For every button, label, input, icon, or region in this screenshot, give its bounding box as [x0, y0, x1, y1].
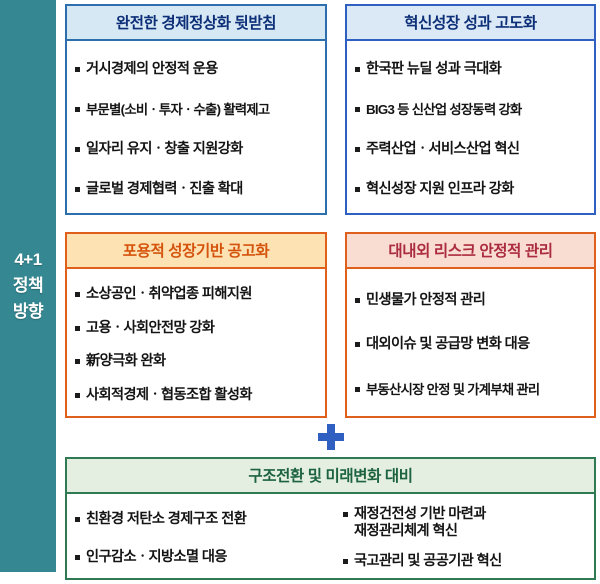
card-inclusive-growth[interactable]: 포용적 성장기반 공고화 소상공인ㆍ취약업종 피해지원 고용ㆍ사회안전망 강화 …	[65, 232, 327, 418]
square-bullet-icon	[75, 292, 80, 297]
card-structure-left-column: 친환경 저탄소 경제구조 전환 인구감소ㆍ지방소멸 대응	[67, 494, 335, 582]
square-bullet-icon	[75, 326, 80, 331]
list-item-label: 주력산업ㆍ서비스산업 혁신	[366, 141, 519, 158]
policy-direction-rail: 4+1 정책 방향	[0, 0, 56, 572]
list-item[interactable]: 대외이슈 및 공급망 변화 대응	[355, 336, 588, 353]
card-structure-title: 구조전환 및 미래변화 대비	[67, 459, 594, 494]
list-item-label: 친환경 저탄소 경제구조 전환	[86, 511, 246, 528]
square-bullet-icon	[355, 387, 360, 392]
card-risk-title: 대내외 리스크 안정적 관리	[347, 234, 594, 269]
list-item-label: BIG3 등 신산업 성장동력 강화	[366, 101, 522, 118]
card-structure-right-column: 재정건전성 기반 마련과 재정관리체계 혁신 국고관리 및 공공기관 혁신	[335, 494, 594, 582]
rail-line-1: 4+1	[14, 248, 41, 272]
square-bullet-icon	[355, 147, 360, 152]
card-structure-columns: 친환경 저탄소 경제구조 전환 인구감소ㆍ지방소멸 대응 재정건전성 기반 마련…	[67, 494, 594, 582]
square-bullet-icon	[343, 512, 348, 517]
list-item-label: 사회적경제ㆍ협동조합 활성화	[86, 387, 252, 404]
square-bullet-icon	[355, 107, 360, 112]
list-item-label: 新양극화 완화	[86, 353, 166, 370]
list-item[interactable]: 혁신성장 지원 인프라 강화	[355, 181, 588, 198]
list-item[interactable]: 거시경제의 안정적 운용	[75, 61, 319, 78]
card-macro-normalization[interactable]: 완전한 경제정상화 뒷받침 거시경제의 안정적 운용 부문별(소비ㆍ투자ㆍ수출)…	[65, 4, 327, 215]
list-item[interactable]: 국고관리 및 공공기관 혁신	[343, 553, 590, 570]
list-item-label: 부문별(소비ㆍ투자ㆍ수출) 활력제고	[86, 101, 269, 118]
card-risk-list: 민생물가 안정적 관리 대외이슈 및 공급망 변화 대응 부동산시장 안정 및 …	[347, 269, 594, 420]
square-bullet-icon	[75, 359, 80, 364]
plus-icon	[318, 424, 344, 450]
list-item-label: 혁신성장 지원 인프라 강화	[366, 181, 514, 198]
list-item-label: 민생물가 안정적 관리	[366, 292, 485, 309]
list-item-label: 일자리 유지ㆍ창출 지원강화	[86, 141, 243, 158]
list-item[interactable]: 부동산시장 안정 및 가계부채 관리	[355, 381, 588, 398]
list-item[interactable]: 新양극화 완화	[75, 353, 319, 370]
square-bullet-icon	[355, 187, 360, 192]
card-macro-title: 완전한 경제정상화 뒷받침	[67, 6, 325, 41]
card-innovation-title: 혁신성장 성과 고도화	[347, 6, 594, 41]
list-item[interactable]: 고용ㆍ사회안전망 강화	[75, 320, 319, 337]
list-item[interactable]: 주력산업ㆍ서비스산업 혁신	[355, 141, 588, 158]
list-item-label: 거시경제의 안정적 운용	[86, 61, 218, 78]
list-item[interactable]: 한국판 뉴딜 성과 극대화	[355, 61, 588, 78]
policy-diagram: 4+1 정책 방향 완전한 경제정상화 뒷받침 거시경제의 안정적 운용 부문별…	[0, 0, 600, 584]
square-bullet-icon	[75, 517, 80, 522]
list-item[interactable]: BIG3 등 신산업 성장동력 강화	[355, 101, 588, 118]
list-item[interactable]: 부문별(소비ㆍ투자ㆍ수출) 활력제고	[75, 101, 319, 118]
square-bullet-icon	[343, 559, 348, 564]
list-item[interactable]: 인구감소ㆍ지방소멸 대응	[75, 549, 331, 566]
list-item-label: 한국판 뉴딜 성과 극대화	[366, 61, 501, 78]
card-inclusive-title: 포용적 성장기반 공고화	[67, 234, 325, 269]
card-structural-transition[interactable]: 구조전환 및 미래변화 대비 친환경 저탄소 경제구조 전환 인구감소ㆍ지방소멸…	[65, 457, 596, 580]
card-risk-management[interactable]: 대내외 리스크 안정적 관리 민생물가 안정적 관리 대외이슈 및 공급망 변화…	[345, 232, 596, 418]
square-bullet-icon	[75, 555, 80, 560]
rail-line-2: 정책	[13, 274, 43, 298]
list-item[interactable]: 일자리 유지ㆍ창출 지원강화	[75, 141, 319, 158]
list-item[interactable]: 소상공인ㆍ취약업종 피해지원	[75, 286, 319, 303]
list-item[interactable]: 친환경 저탄소 경제구조 전환	[75, 511, 331, 528]
list-item-label: 글로벌 경제협력ㆍ진출 확대	[86, 181, 243, 198]
rail-line-3: 방향	[13, 300, 43, 324]
square-bullet-icon	[75, 393, 80, 398]
card-macro-list: 거시경제의 안정적 운용 부문별(소비ㆍ투자ㆍ수출) 활력제고 일자리 유지ㆍ창…	[67, 41, 325, 217]
square-bullet-icon	[75, 67, 80, 72]
list-item[interactable]: 민생물가 안정적 관리	[355, 292, 588, 309]
list-item[interactable]: 글로벌 경제협력ㆍ진출 확대	[75, 181, 319, 198]
list-item-label: 인구감소ㆍ지방소멸 대응	[86, 549, 227, 566]
square-bullet-icon	[355, 298, 360, 303]
plus-bar-vertical	[327, 424, 335, 450]
list-item-label: 국고관리 및 공공기관 혁신	[354, 553, 502, 570]
list-item-label: 재정건전성 기반 마련과 재정관리체계 혁신	[354, 506, 486, 540]
card-inclusive-list: 소상공인ㆍ취약업종 피해지원 고용ㆍ사회안전망 강화 新양극화 완화 사회적경제…	[67, 269, 325, 420]
square-bullet-icon	[355, 342, 360, 347]
card-innovation-list: 한국판 뉴딜 성과 극대화 BIG3 등 신산업 성장동력 강화 주력산업ㆍ서비…	[347, 41, 594, 217]
list-item-label: 고용ㆍ사회안전망 강화	[86, 320, 214, 337]
square-bullet-icon	[75, 107, 80, 112]
square-bullet-icon	[75, 147, 80, 152]
list-item-label: 대외이슈 및 공급망 변화 대응	[366, 336, 530, 353]
square-bullet-icon	[75, 187, 80, 192]
list-item-label: 소상공인ㆍ취약업종 피해지원	[86, 286, 252, 303]
list-item-label: 부동산시장 안정 및 가계부채 관리	[366, 381, 539, 398]
list-item[interactable]: 사회적경제ㆍ협동조합 활성화	[75, 387, 319, 404]
card-innovation-growth[interactable]: 혁신성장 성과 고도화 한국판 뉴딜 성과 극대화 BIG3 등 신산업 성장동…	[345, 4, 596, 215]
list-item[interactable]: 재정건전성 기반 마련과 재정관리체계 혁신	[343, 506, 590, 540]
square-bullet-icon	[355, 67, 360, 72]
